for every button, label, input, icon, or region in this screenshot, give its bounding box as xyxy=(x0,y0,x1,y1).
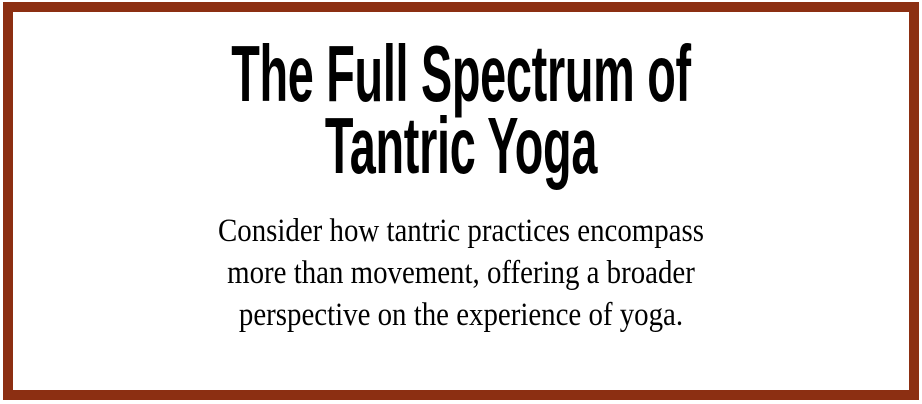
body-paragraph: Consider how tantric practices encompass… xyxy=(13,210,909,336)
body-line-2: more than movement, offering a broader xyxy=(69,252,853,294)
title-line-1: The Full Spectrum of xyxy=(199,38,723,110)
body-line-1: Consider how tantric practices encompass xyxy=(69,210,853,252)
card-content-area: The Full Spectrum of Tantric Yoga Consid… xyxy=(13,12,909,390)
title-line-2: Tantric Yoga xyxy=(199,110,723,182)
body-line-3: perspective on the experience of yoga. xyxy=(69,294,853,336)
bordered-card: The Full Spectrum of Tantric Yoga Consid… xyxy=(3,2,919,400)
page-title: The Full Spectrum of Tantric Yoga xyxy=(13,38,909,182)
